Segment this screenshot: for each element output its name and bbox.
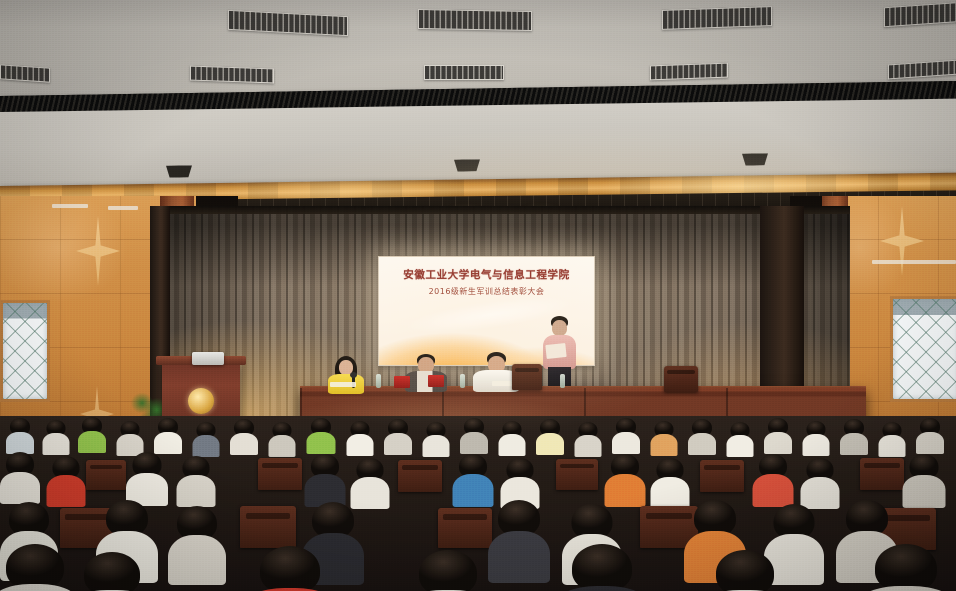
audience [0, 416, 956, 591]
auditorium-photo: 安徽工业大学电气与信息工程学院 2016级新生军训总结表彰大会 [0, 0, 956, 591]
red-box [394, 376, 410, 388]
audience-member-foreground [556, 544, 648, 591]
audience-member [268, 422, 296, 456]
speaker-head [552, 320, 567, 336]
ceiling-light-grille [662, 6, 772, 30]
water-bottle [560, 374, 565, 388]
table-papers [330, 382, 356, 387]
audience-member [230, 419, 258, 453]
audience-member [422, 422, 450, 456]
audience-member [612, 418, 640, 452]
audience-member [604, 454, 646, 506]
slide-title: 安徽工业大学电气与信息工程学院 [379, 267, 594, 282]
audience-member-foreground [404, 550, 492, 591]
audience-member [116, 421, 144, 455]
audience-chair [86, 460, 126, 490]
wall-trim-strip [872, 260, 956, 264]
left-window [0, 300, 50, 402]
audience-member [902, 454, 946, 506]
audience-member [688, 419, 716, 453]
audience-member-foreground [244, 546, 336, 591]
audience-member-foreground [0, 544, 78, 591]
audience-chair [240, 506, 296, 548]
audience-member [802, 421, 830, 455]
audience-member [800, 458, 840, 508]
audience-member [306, 418, 336, 452]
wall-trim-strip [52, 204, 88, 208]
audience-member [168, 506, 226, 582]
audience-member [452, 454, 494, 506]
audience-member [154, 418, 182, 452]
audience-member [126, 452, 168, 504]
wall-trim-strip [108, 206, 138, 210]
audience-member [0, 452, 40, 502]
audience-member-foreground [858, 544, 954, 591]
water-bottle [460, 374, 465, 388]
audience-member [498, 421, 526, 455]
soffit-speaker [166, 165, 192, 177]
audience-member [878, 422, 906, 456]
audience-member-foreground [70, 552, 154, 591]
ceiling-light-grille [424, 65, 504, 80]
podium-emblem [188, 388, 214, 414]
audience-chair [398, 460, 442, 492]
audience-member [574, 422, 602, 456]
water-bottle [376, 374, 381, 388]
audience-chair [700, 460, 744, 492]
audience-member [460, 418, 488, 452]
audience-member [916, 418, 944, 452]
slide-subtitle: 2016级新生军训总结表彰大会 [379, 286, 594, 297]
empty-stage-chair [512, 364, 542, 390]
right-window [890, 296, 956, 402]
soffit-speaker [742, 153, 768, 165]
speaker-paper [545, 343, 566, 359]
audience-member [192, 422, 220, 456]
podium-laptop [192, 352, 224, 365]
red-box [428, 375, 444, 387]
audience-member [304, 454, 346, 506]
audience-member [488, 500, 550, 580]
audience-member [840, 419, 868, 453]
audience-member [536, 419, 564, 453]
audience-member [46, 456, 86, 506]
audience-member-foreground [700, 550, 790, 591]
audience-member [350, 458, 390, 508]
empty-stage-chair [664, 366, 698, 392]
ceiling-light-grille [650, 63, 728, 81]
audience-member [650, 421, 678, 455]
audience-member [346, 421, 374, 455]
ceiling-light-grille [190, 66, 274, 84]
audience-chair [556, 459, 598, 490]
audience-chair [258, 458, 302, 490]
audience-member [176, 456, 216, 506]
audience-member [752, 454, 794, 506]
soffit-speaker [454, 159, 480, 171]
ceiling-light-grille [418, 9, 532, 31]
audience-member [384, 419, 412, 453]
audience-member [42, 420, 70, 454]
audience-chair [860, 458, 904, 490]
curtain-rod [150, 206, 850, 214]
audience-member [6, 418, 34, 452]
audience-member [764, 418, 792, 452]
audience-chair [438, 508, 492, 548]
audience-member [78, 417, 106, 451]
audience-member [726, 422, 754, 456]
